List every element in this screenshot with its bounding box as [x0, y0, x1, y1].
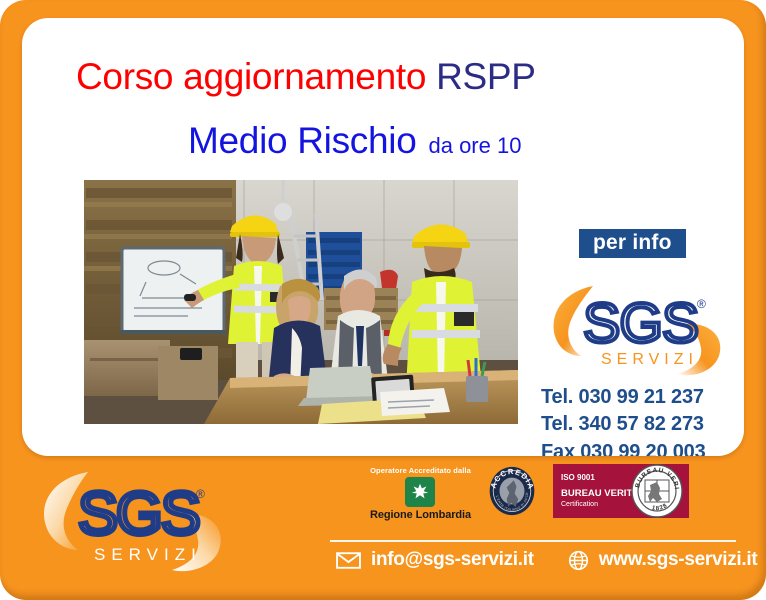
lombardia-rose-icon [405, 477, 435, 507]
svg-text:SERVIZI: SERVIZI [94, 545, 202, 564]
regione-lombardia-top-label: Operatore Accreditato dalla [370, 466, 471, 475]
fax-number: Fax 030 99 20 003 [541, 439, 706, 456]
page-title-line-2: Medio Rischioda ore 10 [188, 122, 521, 159]
white-content-card: Corso aggiornamento RSPP Medio Rischioda… [22, 18, 744, 456]
bureau-veritas-badge-icon: ISO 9001 BUREAU VERITAS Certification BU… [553, 464, 689, 518]
svg-text:®: ® [196, 487, 205, 501]
envelope-icon-graphic [336, 552, 361, 569]
contact-details: Tel. 030 99 21 237 Tel. 340 57 82 273 Fa… [541, 384, 706, 456]
page-title-line-1: Corso aggiornamento RSPP [76, 58, 536, 95]
sgs-logo-right: SGS ® SERVIZI [545, 280, 731, 380]
svg-text:Certification: Certification [561, 501, 598, 508]
svg-text:SGS: SGS [583, 291, 698, 354]
title-rspp-label: RSPP [436, 56, 536, 97]
globe-icon [568, 550, 589, 571]
title-risk-level-label: Medio Rischio [188, 120, 416, 161]
footer-divider [330, 540, 736, 542]
training-photo [84, 180, 518, 424]
bureau-veritas-logo: ISO 9001 BUREAU VERITAS Certification BU… [553, 464, 689, 523]
sgs-logo-right-graphic: SGS ® SERVIZI [545, 280, 731, 380]
footer-contacts: info@sgs-servizi.it www.sgs-servizi.it [336, 549, 757, 571]
regione-lombardia-logo: Operatore Accreditato dalla Regione Lomb… [370, 466, 471, 521]
phone-primary: Tel. 030 99 21 237 [541, 384, 706, 411]
title-hours-label: da ore 10 [428, 133, 521, 158]
accredia-logo: ACCREDIA L'ENTE ITALIANO DI ACCREDITAMEN… [487, 466, 537, 521]
globe-icon-graphic [568, 550, 589, 571]
svg-text:ISO 9001: ISO 9001 [561, 473, 595, 482]
sgs-logo-footer: SGS ® SERVIZI [36, 468, 236, 578]
footer-email[interactable]: info@sgs-servizi.it [371, 549, 534, 571]
camuna-rose-icon [409, 481, 431, 503]
accredia-seal-icon: ACCREDIA L'ENTE ITALIANO DI ACCREDITAMEN… [487, 466, 537, 516]
envelope-icon [336, 552, 361, 569]
regione-lombardia-bottom-label: Regione Lombardia [370, 509, 471, 521]
footer-website[interactable]: www.sgs-servizi.it [599, 549, 758, 571]
svg-text:®: ® [697, 297, 706, 311]
training-photo-illustration [84, 180, 518, 424]
title-course-label: Corso aggiornamento [76, 56, 426, 97]
certification-logos: Operatore Accreditato dalla Regione Lomb… [370, 464, 689, 523]
svg-text:SGS: SGS [78, 480, 199, 547]
svg-text:SERVIZI: SERVIZI [601, 351, 698, 368]
per-info-badge: per info [579, 229, 686, 258]
phone-mobile: Tel. 340 57 82 273 [541, 411, 706, 438]
poster-root: Corso aggiornamento RSPP Medio Rischioda… [0, 0, 766, 600]
sgs-logo-footer-graphic: SGS ® SERVIZI [36, 468, 236, 578]
